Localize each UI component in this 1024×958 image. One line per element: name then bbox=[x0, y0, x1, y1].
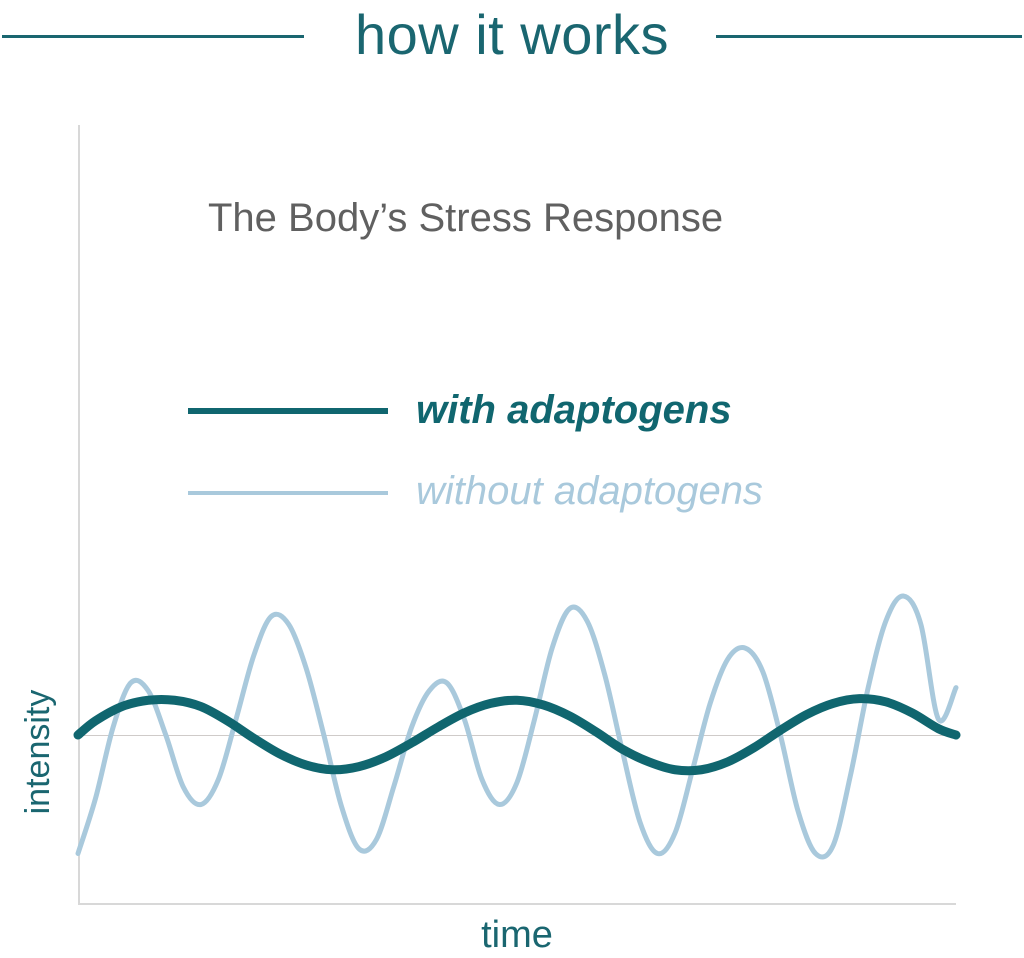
chart-container: The Body’s Stress Response with adaptoge… bbox=[0, 72, 1024, 947]
y-axis-label: intensity bbox=[18, 662, 58, 842]
page-title: how it works bbox=[0, 0, 1024, 70]
page-header: how it works bbox=[0, 0, 1024, 72]
series-line-without-adaptogens bbox=[78, 596, 956, 857]
x-axis-label: time bbox=[78, 912, 956, 958]
series-line-with-adaptogens bbox=[78, 699, 956, 771]
waveform-plot bbox=[0, 72, 1024, 947]
